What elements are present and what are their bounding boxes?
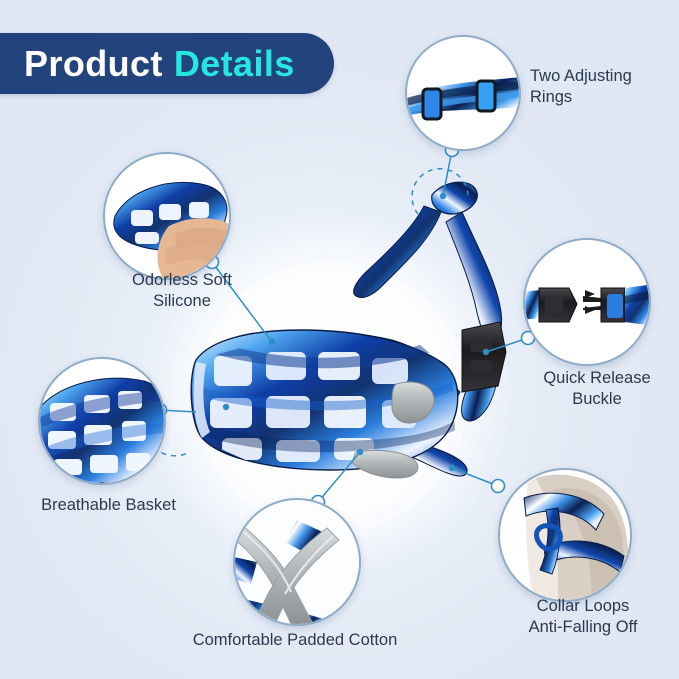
callout-bubble-two-adjusting-rings[interactable] (405, 35, 521, 151)
callout-label-odorless-soft-silicone: Odorless Soft Silicone (96, 270, 268, 313)
callout-label-breathable-basket: Breathable Basket (16, 495, 201, 516)
callout-bubble-quick-release-buckle[interactable] (523, 238, 651, 366)
infographic-canvas: ProductDetails Two Adjusting Rings (0, 0, 679, 679)
callout-bubble-collar-loops[interactable] (498, 468, 632, 602)
callout-bubble-odorless-soft-silicone[interactable] (103, 152, 231, 280)
adjusting-rings-icon (407, 37, 519, 149)
basket-lattice-icon (40, 359, 164, 483)
hand-squeezing-silicone-icon (105, 154, 229, 278)
title-part-product: Product (24, 43, 163, 84)
callout-bubble-breathable-basket[interactable] (38, 357, 166, 485)
callout-label-comfortable-padded-cotton: Comfortable Padded Cotton (170, 630, 420, 651)
side-release-buckle-icon (525, 240, 649, 364)
callout-label-collar-loops: Collar Loops Anti-Falling Off (498, 596, 668, 639)
callout-label-quick-release-buckle: Quick Release Buckle (519, 368, 675, 411)
dog-wearing-collar-loops-icon (500, 470, 630, 600)
callout-label-two-adjusting-rings: Two Adjusting Rings (530, 66, 632, 109)
header-banner: ProductDetails (0, 33, 334, 94)
padded-cotton-straps-icon (235, 500, 359, 624)
page-title: ProductDetails (24, 46, 295, 82)
title-part-details: Details (174, 43, 295, 84)
callout-bubble-comfortable-padded-cotton[interactable] (233, 498, 361, 626)
